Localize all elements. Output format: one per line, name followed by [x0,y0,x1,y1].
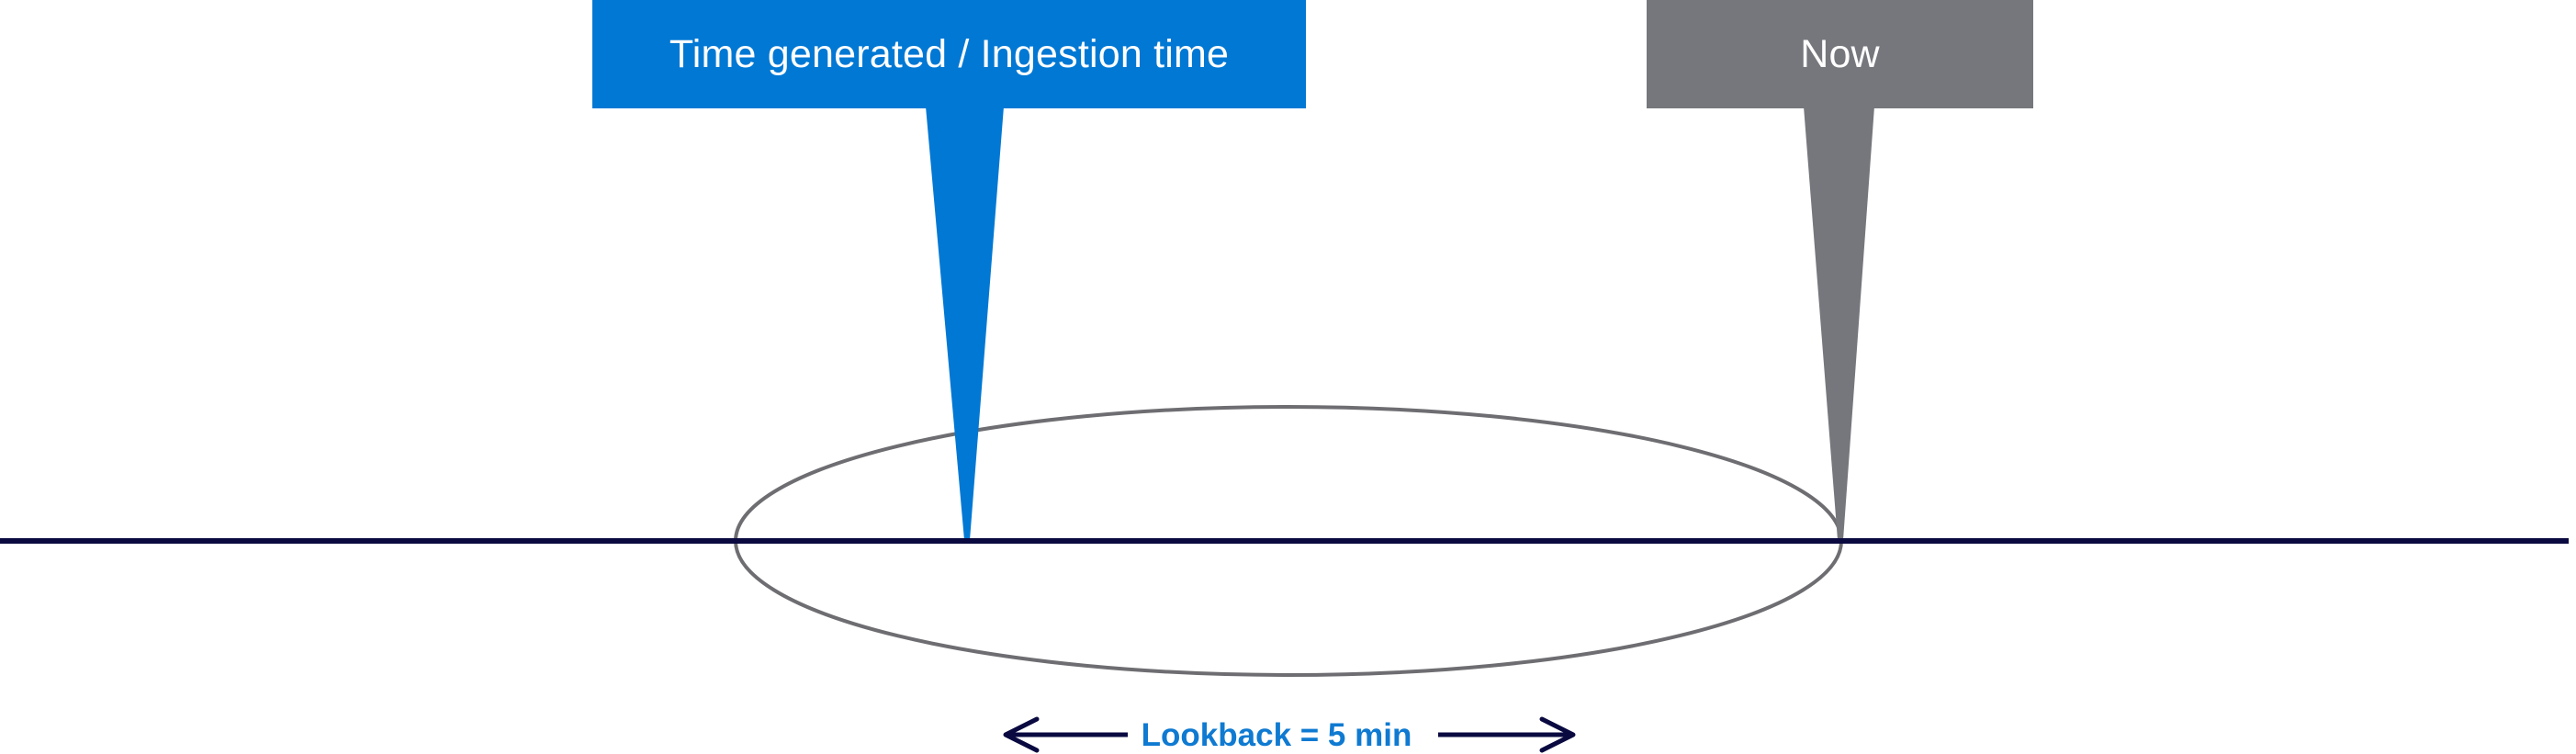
time-generated-pointer [926,107,1004,540]
time-axis-line [0,538,2569,544]
now-pointer [1804,107,1874,540]
diagram-canvas: Time generated / Ingestion time Now Look… [0,0,2576,754]
diagram-vector-layer [0,0,2576,754]
time-generated-callout-box [592,0,1306,108]
now-callout-box [1647,0,2033,108]
